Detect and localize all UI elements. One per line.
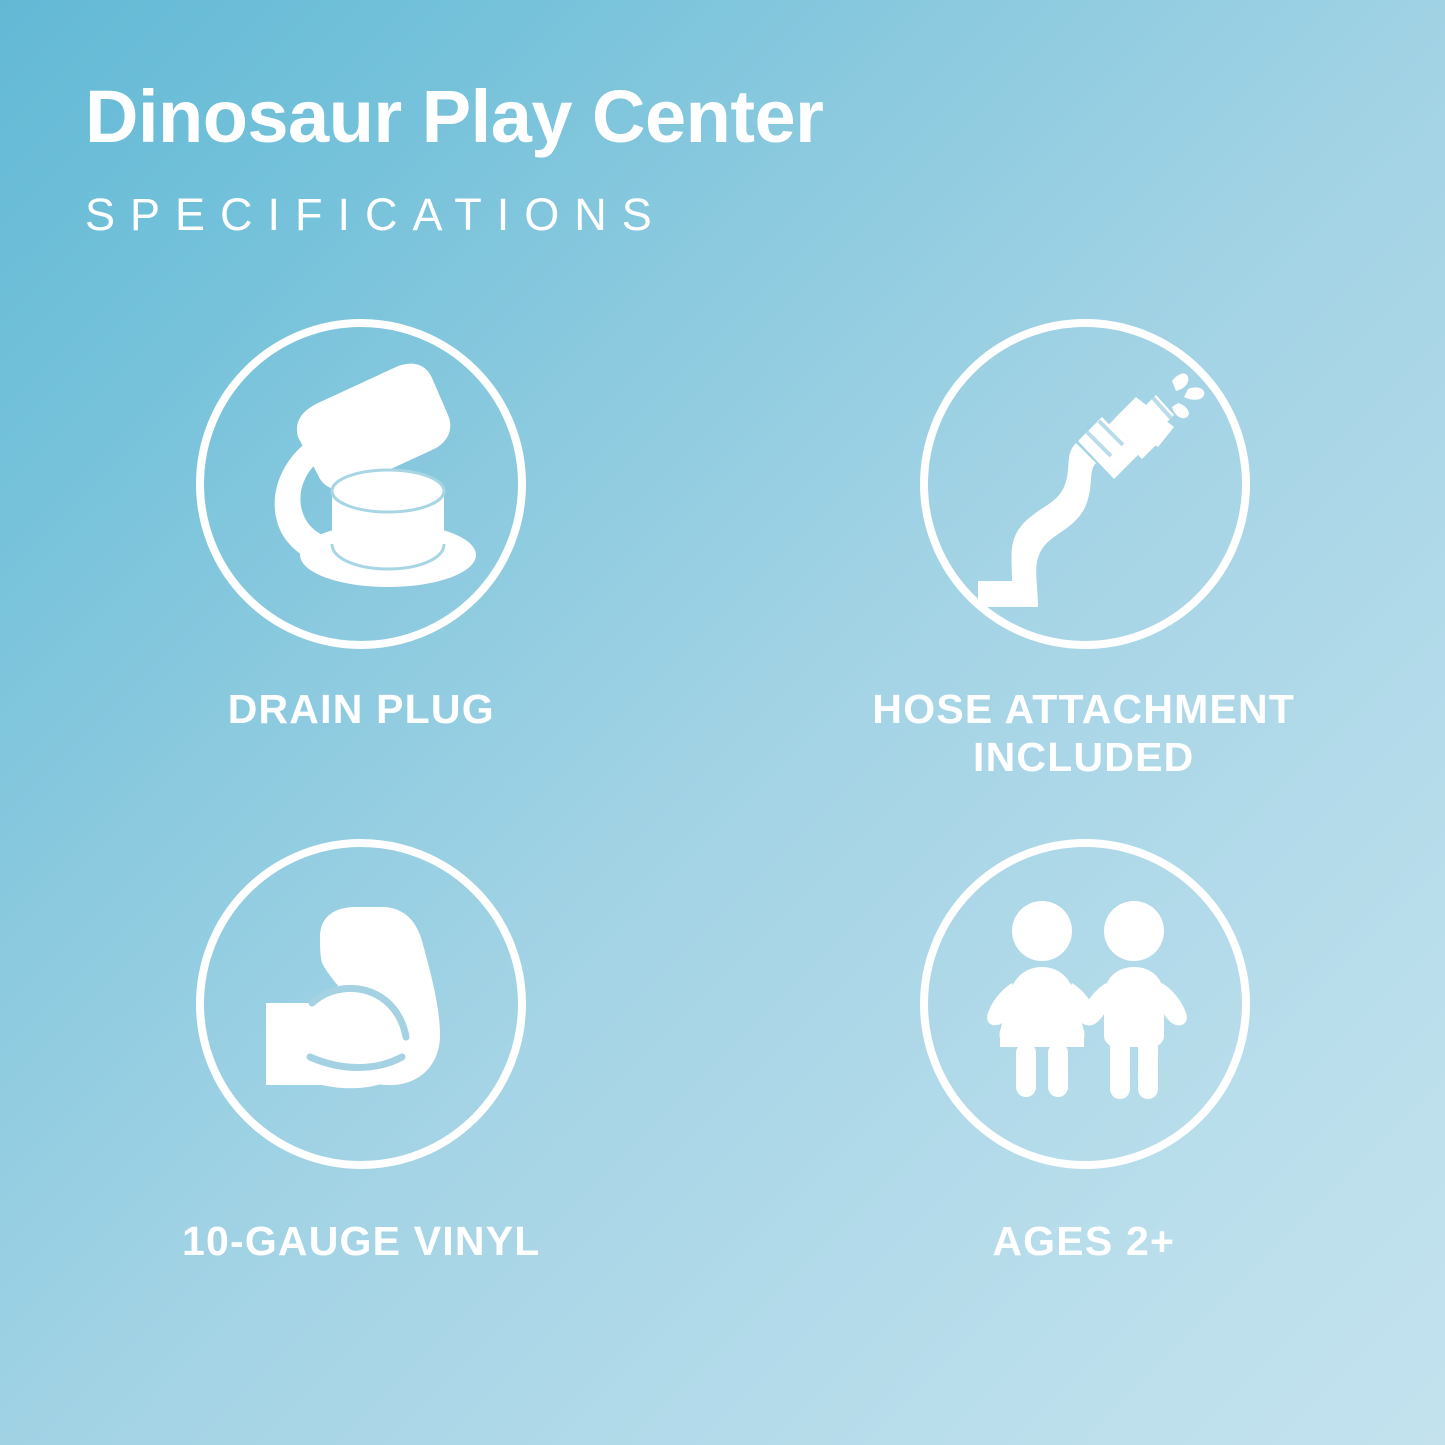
drain-plug-icon xyxy=(236,359,486,609)
spec-label: AGES 2+ xyxy=(992,1218,1175,1266)
specifications-infographic: Dinosaur Play Center SPECIFICATIONS xyxy=(0,0,1445,1445)
boy-head xyxy=(1104,901,1164,961)
two-children-icon xyxy=(960,879,1210,1129)
spec-item-age-range: AGES 2+ xyxy=(723,838,1445,1358)
hose-nozzle-icon xyxy=(960,359,1210,609)
spec-item-drain-plug: DRAIN PLUG xyxy=(0,318,723,838)
flexed-bicep-icon xyxy=(236,879,486,1129)
header: Dinosaur Play Center SPECIFICATIONS xyxy=(85,78,1285,237)
icon-ring xyxy=(195,318,527,650)
icon-ring xyxy=(195,838,527,1170)
icon-ring xyxy=(919,838,1251,1170)
icon-ring xyxy=(919,318,1251,650)
page-title: Dinosaur Play Center xyxy=(85,78,1285,156)
spec-label: HOSE ATTACHMENT INCLUDED xyxy=(872,686,1295,782)
spec-grid: DRAIN PLUG xyxy=(0,318,1445,1358)
page-subtitle: SPECIFICATIONS xyxy=(85,192,1285,237)
spec-item-vinyl-gauge: 10-GAUGE VINYL xyxy=(0,838,723,1358)
girl-head xyxy=(1012,901,1072,961)
spec-label: DRAIN PLUG xyxy=(228,686,495,734)
spec-item-hose-attachment: HOSE ATTACHMENT INCLUDED xyxy=(723,318,1445,838)
spec-label: 10-GAUGE VINYL xyxy=(182,1218,541,1266)
